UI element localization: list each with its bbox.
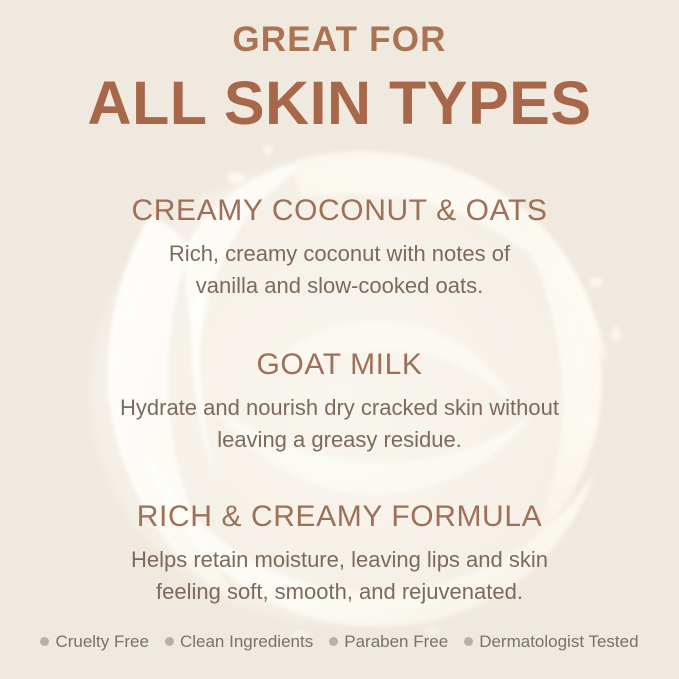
benefit-body-line: Hydrate and nourish dry cracked skin wit… <box>0 392 679 424</box>
claim-badge-label: Paraben Free <box>344 633 448 650</box>
product-benefits-graphic: GREAT FOR ALL SKIN TYPES CREAMY COCONUT … <box>0 0 679 679</box>
claim-badge: Paraben Free <box>321 633 456 650</box>
claim-badge: Dermatologist Tested <box>456 633 646 650</box>
benefit-section: RICH & CREAMY FORMULA Helps retain moist… <box>0 502 679 608</box>
page-title: ALL SKIN TYPES <box>0 73 679 134</box>
bullet-dot-icon <box>329 637 338 646</box>
benefit-section: CREAMY COCONUT & OATS Rich, creamy cocon… <box>0 196 679 302</box>
benefit-body-line: Rich, creamy coconut with notes of <box>0 238 679 270</box>
claim-badge-label: Clean Ingredients <box>180 633 313 650</box>
benefit-title: RICH & CREAMY FORMULA <box>0 502 679 532</box>
benefit-body-line: vanilla and slow-cooked oats. <box>0 270 679 302</box>
claim-badge-label: Cruelty Free <box>55 633 149 650</box>
claim-badge-label: Dermatologist Tested <box>479 633 638 650</box>
benefit-body: Helps retain moisture, leaving lips and … <box>0 544 679 608</box>
benefit-body-line: leaving a greasy residue. <box>0 424 679 456</box>
benefit-body-line: feeling soft, smooth, and rejuvenated. <box>0 576 679 608</box>
benefit-body: Rich, creamy coconut with notes of vanil… <box>0 238 679 302</box>
bullet-dot-icon <box>464 637 473 646</box>
benefit-section: GOAT MILK Hydrate and nourish dry cracke… <box>0 350 679 456</box>
claim-badge: Clean Ingredients <box>157 633 321 650</box>
claim-badge: Cruelty Free <box>32 633 157 650</box>
headline-eyebrow: GREAT FOR <box>0 22 679 57</box>
claims-footer: Cruelty Free Clean Ingredients Paraben F… <box>0 633 679 650</box>
benefit-body-line: Helps retain moisture, leaving lips and … <box>0 544 679 576</box>
bullet-dot-icon <box>40 637 49 646</box>
benefit-title: CREAMY COCONUT & OATS <box>0 196 679 226</box>
benefit-body: Hydrate and nourish dry cracked skin wit… <box>0 392 679 456</box>
bullet-dot-icon <box>165 637 174 646</box>
benefit-title: GOAT MILK <box>0 350 679 380</box>
headline-block: GREAT FOR ALL SKIN TYPES <box>0 22 679 134</box>
